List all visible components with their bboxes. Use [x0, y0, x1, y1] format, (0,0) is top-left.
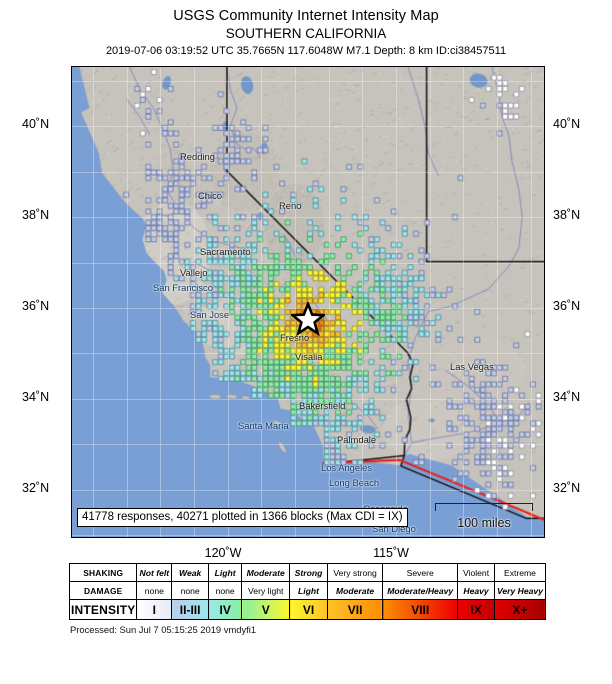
legend-damage-cell: Moderate [327, 582, 382, 600]
graticule-line [463, 67, 464, 537]
graticule-line [531, 67, 532, 537]
legend-damage-cell: Moderate/Heavy [383, 582, 458, 600]
scale-bar [435, 503, 533, 511]
legend-shaking-cell: Strong [290, 564, 328, 582]
graticule-line [72, 444, 544, 445]
graticule-line [93, 67, 94, 537]
city-label: San Francisco [153, 283, 213, 293]
legend-intensity-cell: VIII [383, 600, 458, 620]
legend-damage-cell: Light [290, 582, 328, 600]
lat-label-right: 34˚N [553, 390, 580, 404]
lat-label-left: 34˚N [22, 390, 49, 404]
response-count-box: 41778 responses, 40271 plotted in 1366 b… [77, 508, 408, 527]
legend-damage-cell: Heavy [458, 582, 495, 600]
legend-row: INTENSITYIII-IIIIVVVIVIIVIIIIXX+ [70, 600, 546, 620]
intensity-map[interactable]: ReddingChicoRenoSacramentoVallejoSan Fra… [71, 66, 545, 538]
city-label: Sacramento [200, 247, 251, 257]
legend-row-label: DAMAGE [70, 582, 137, 600]
city-label: Reno [279, 201, 301, 211]
legend-damage-cell: none [137, 582, 172, 600]
graticule-line [72, 81, 544, 82]
graticule-line [430, 67, 431, 537]
graticule-line [72, 490, 544, 491]
city-label: Los Angeles [321, 463, 372, 473]
legend-shaking-cell: Very strong [327, 564, 382, 582]
intensity-legend: SHAKINGNot feltWeakLightModerateStrongVe… [69, 563, 546, 620]
event-info: 2019-07-06 03:19:52 UTC 35.7665N 117.604… [0, 43, 612, 59]
legend-intensity-cell: I [137, 600, 172, 620]
page-title: USGS Community Internet Intensity Map SO… [0, 8, 612, 59]
legend-intensity-cell: VI [290, 600, 328, 620]
city-label: Redding [180, 152, 215, 162]
city-label: Vallejo [180, 268, 207, 278]
city-label: Chico [198, 191, 222, 201]
legend-row-label: INTENSITY [70, 600, 137, 620]
legend-damage-cell: Very Heavy [494, 582, 545, 600]
legend-shaking-cell: Moderate [242, 564, 290, 582]
scale-bar-label: 100 miles [434, 516, 534, 530]
city-label: Yuma [479, 535, 503, 538]
epicenter-star-icon [291, 302, 325, 336]
legend-intensity-cell: V [242, 600, 290, 620]
lat-label-left: 32˚N [22, 481, 49, 495]
legend-row: DAMAGEnonenonenoneVery lightLightModerat… [70, 582, 546, 600]
lat-label-left: 36˚N [22, 299, 49, 313]
city-label: San Jose [190, 310, 229, 320]
legend-intensity-cell: IX [458, 600, 495, 620]
lon-label: 115˚W [373, 546, 409, 560]
city-label: Las Vegas [450, 362, 494, 372]
graticule-line [160, 67, 161, 537]
city-label: Long Beach [329, 478, 379, 488]
lat-label-right: 36˚N [553, 299, 580, 313]
legend-intensity-cell: X+ [494, 600, 545, 620]
legend-shaking-cell: Weak [172, 564, 209, 582]
legend-damage-cell: none [209, 582, 242, 600]
legend-shaking-cell: Extreme [494, 564, 545, 582]
graticule-line [127, 67, 128, 537]
graticule-line [261, 67, 262, 537]
city-label: Bakersfield [299, 401, 345, 411]
legend-damage-cell: none [172, 582, 209, 600]
legend-shaking-cell: Not felt [137, 564, 172, 582]
lat-label-left: 38˚N [22, 208, 49, 222]
city-label: Santa Maria [238, 421, 289, 431]
lon-label: 120˚W [205, 546, 242, 560]
legend-row-label: SHAKING [70, 564, 137, 582]
legend-shaking-cell: Violent [458, 564, 495, 582]
lat-label-right: 32˚N [553, 481, 580, 495]
graticule-line [497, 67, 498, 537]
lat-label-right: 40˚N [553, 117, 580, 131]
legend-intensity-cell: VII [327, 600, 382, 620]
graticule-line [228, 67, 229, 537]
legend-row: SHAKINGNot feltWeakLightModerateStrongVe… [70, 564, 546, 582]
response-count-text: 41778 responses, 40271 plotted in 1366 b… [82, 511, 403, 523]
processed-timestamp: Processed: Sun Jul 7 05:15:25 2019 vmdyf… [70, 624, 256, 635]
map-region: SOUTHERN CALIFORNIA [0, 25, 612, 42]
graticule-line [194, 67, 195, 537]
city-label: Visalia [295, 352, 322, 362]
city-label: Palmdale [337, 435, 376, 445]
legend-intensity-cell: IV [209, 600, 242, 620]
lat-label-left: 40˚N [22, 117, 49, 131]
graticule-line [72, 535, 544, 536]
legend-shaking-cell: Light [209, 564, 242, 582]
legend-damage-cell: Very light [242, 582, 290, 600]
legend-shaking-cell: Severe [383, 564, 458, 582]
graticule-line [396, 67, 397, 537]
graticule-line [72, 126, 544, 127]
legend-intensity-cell: II-III [172, 600, 209, 620]
graticule-line [72, 263, 544, 264]
map-title: USGS Community Internet Intensity Map [0, 8, 612, 25]
lat-label-right: 38˚N [553, 208, 580, 222]
graticule-line [72, 217, 544, 218]
graticule-line [72, 172, 544, 173]
